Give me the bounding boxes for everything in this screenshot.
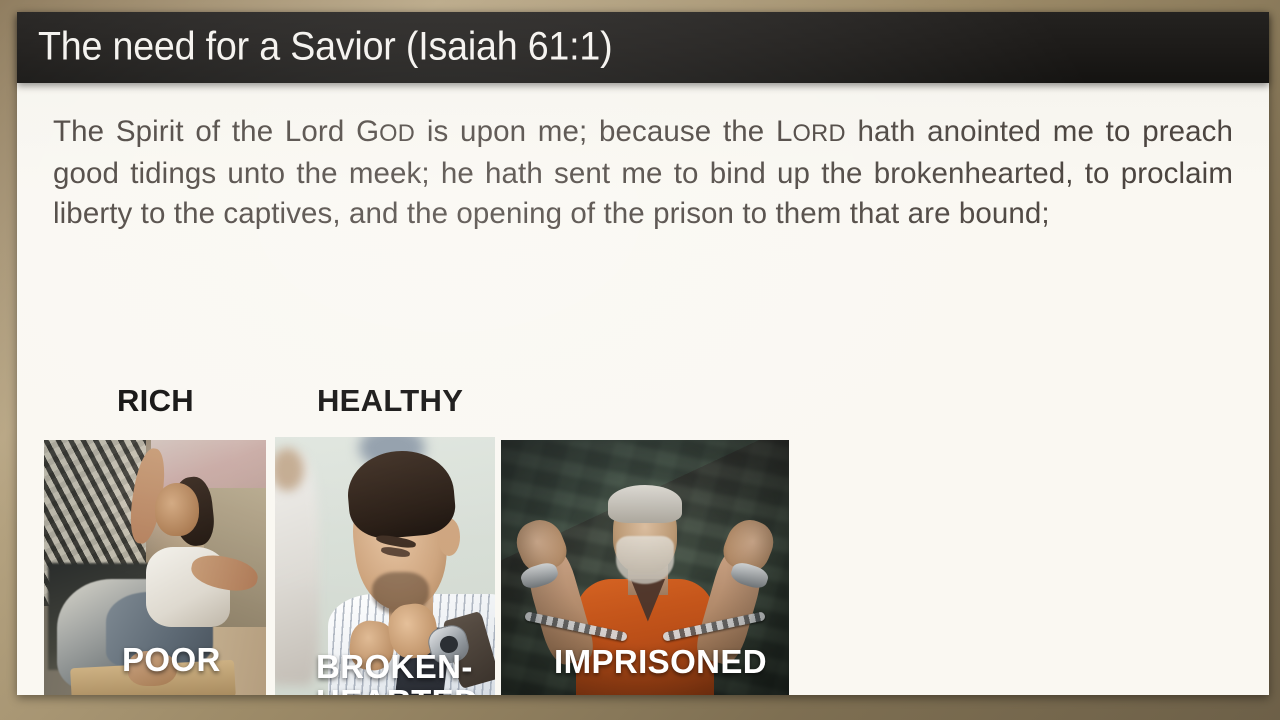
poor-head-shape [155, 483, 199, 536]
verse-smallcaps-god: OD [379, 121, 415, 147]
caption-poor: POOR [122, 642, 221, 677]
photo-poor[interactable]: POOR [44, 440, 266, 695]
label-rich: RICH [117, 383, 194, 419]
photo-brokenhearted[interactable]: BROKEN- HEARTED [275, 437, 495, 695]
verse-smallcaps-lord: ORD [792, 121, 845, 147]
scripture-paragraph: The Spirit of the Lord GOD is upon me; b… [53, 112, 1233, 234]
verse-part-1: The Spirit of the Lord G [53, 115, 379, 148]
photo-imprisoned[interactable]: IMPRISONED [501, 440, 789, 695]
label-healthy: HEALTHY [317, 383, 463, 419]
broken-hair-shape [344, 446, 457, 541]
broken-background-head-shape [275, 448, 304, 491]
slide-title: The need for a Savior (Isaiah 61:1) [38, 24, 612, 69]
slide-outer-frame: The Spirit of the Lord GOD is upon me; b… [0, 0, 1280, 720]
slide-title-bar: The need for a Savior (Isaiah 61:1) [17, 12, 1269, 83]
verse-part-2: is upon me; because the L [415, 115, 792, 148]
caption-brokenhearted: BROKEN- HEARTED [316, 649, 478, 695]
caption-imprisoned: IMPRISONED [554, 644, 767, 679]
slide-canvas: The Spirit of the Lord GOD is upon me; b… [17, 12, 1269, 695]
